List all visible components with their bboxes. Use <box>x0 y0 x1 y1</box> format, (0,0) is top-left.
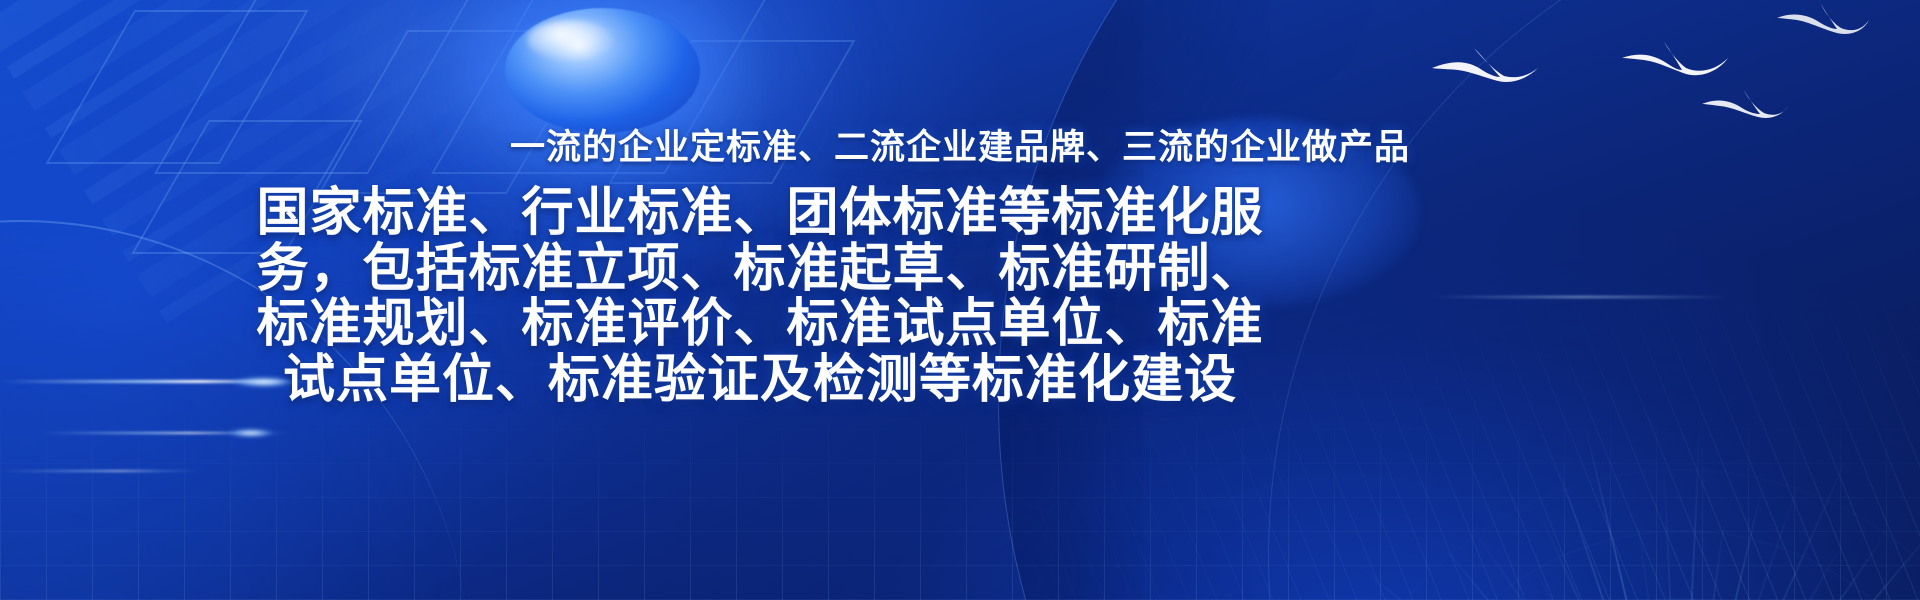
banner-subtitle: 一流的企业定标准、二流企业建品牌、三流的企业做产品 <box>0 119 1920 170</box>
headline-line: 务，包括标准立项、标准起草、标准研制、 <box>230 242 1290 298</box>
headline-line: 试点单位、标准验证及检测等标准化建设 <box>230 353 1290 409</box>
headline-line: 国家标准、行业标准、团体标准等标准化服 <box>230 186 1290 242</box>
headline-line: 标准规划、标准评价、标准试点单位、标准 <box>230 297 1290 353</box>
standardization-service-banner: 一流的企业定标准、二流企业建品牌、三流的企业做产品 国家标准、行业标准、团体标准… <box>0 0 1920 600</box>
banner-text-content: 一流的企业定标准、二流企业建品牌、三流的企业做产品 国家标准、行业标准、团体标准… <box>0 0 1920 600</box>
banner-headline: 国家标准、行业标准、团体标准等标准化服 务，包括标准立项、标准起草、标准研制、 … <box>230 186 1290 409</box>
